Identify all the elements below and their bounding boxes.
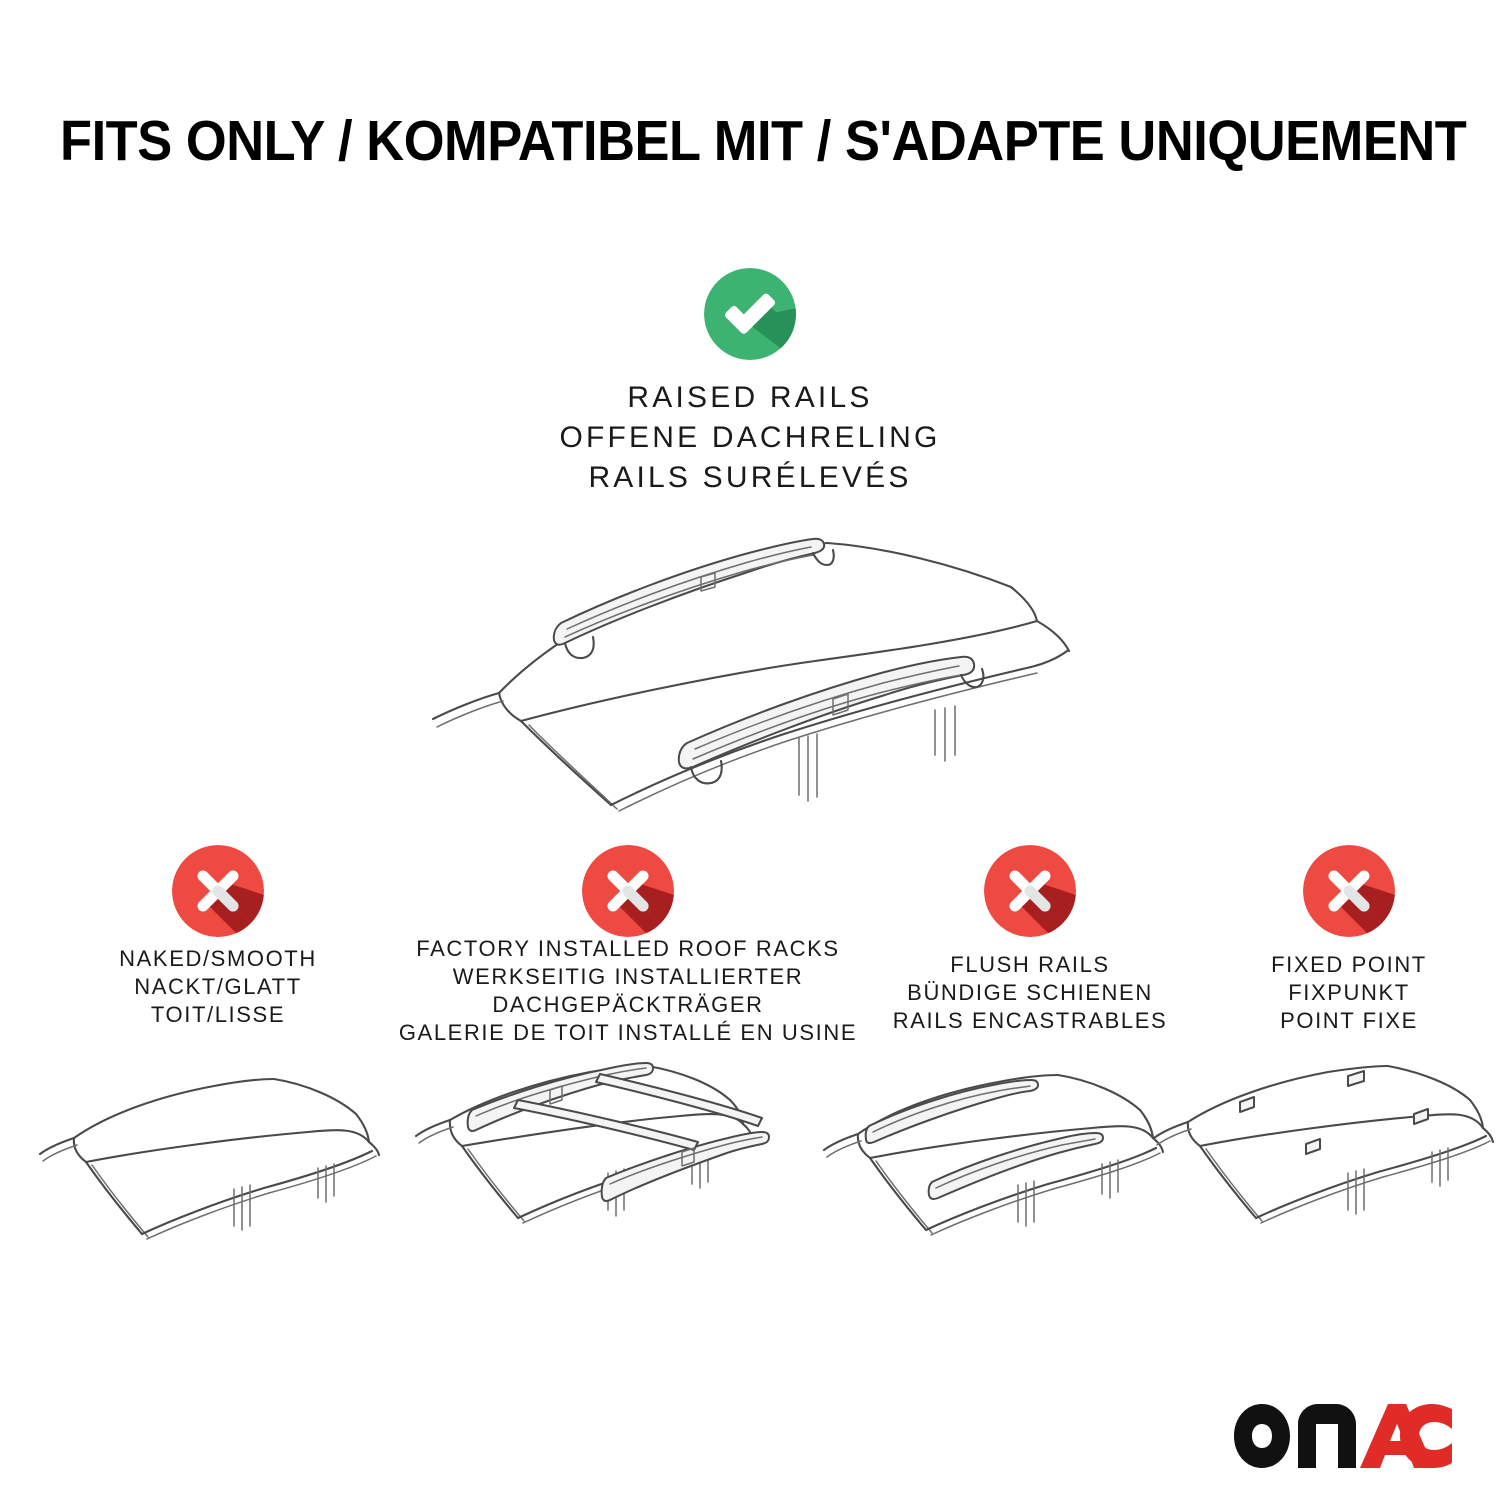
cross-circle-icon <box>1303 845 1395 937</box>
cross-circle-wrap <box>1204 845 1494 945</box>
label-de-2: DACHGEPÄCKTRÄGER <box>398 991 858 1019</box>
cross-circle-icon <box>172 845 264 937</box>
incompatible-labels-factory-racks: FACTORY INSTALLED ROOF RACKS WERKSEITIG … <box>398 935 858 1047</box>
label-fr: GALERIE DE TOIT INSTALLÉ EN USINE <box>398 1019 858 1047</box>
car-roof-naked-smooth-illustration <box>38 1058 418 1303</box>
incompatible-labels-naked-smooth: NAKED/SMOOTH NACKT/GLATT TOIT/LISSE <box>48 945 388 1029</box>
cross-circle-wrap <box>48 845 388 945</box>
label-en: NAKED/SMOOTH <box>48 945 388 973</box>
car-roof-factory-racks-illustration <box>410 1058 790 1303</box>
page-title: FITS ONLY / KOMPATIBEL MIT / S'ADAPTE UN… <box>60 108 1440 174</box>
compatible-label-fr: RAILS SURÉLEVÉS <box>0 458 1500 498</box>
cross-circle-wrap <box>398 845 858 945</box>
cross-circle-icon <box>582 845 674 937</box>
incompatible-column-naked-smooth: NAKED/SMOOTH NACKT/GLATT TOIT/LISSE <box>48 845 388 945</box>
label-en: FIXED POINT <box>1204 951 1494 979</box>
label-en: FLUSH RAILS <box>862 951 1198 979</box>
check-circle-icon <box>704 268 796 360</box>
label-fr: POINT FIXE <box>1204 1007 1494 1035</box>
car-roof-raised-rails-illustration <box>415 505 1095 815</box>
incompatible-column-fixed-point: FIXED POINT FIXPUNKT POINT FIXE <box>1204 845 1494 945</box>
incompatible-labels-flush-rails: FLUSH RAILS BÜNDIGE SCHIENEN RAILS ENCAS… <box>862 951 1198 1035</box>
car-roof-flush-rails-illustration <box>822 1058 1202 1303</box>
label-de: NACKT/GLATT <box>48 973 388 1001</box>
label-fr: RAILS ENCASTRABLES <box>862 1007 1198 1035</box>
label-de: FIXPUNKT <box>1204 979 1494 1007</box>
compatible-label-de: OFFENE DACHRELING <box>0 418 1500 458</box>
car-roof-fixed-point-illustration <box>1152 1058 1500 1303</box>
omac-logo <box>1228 1398 1458 1470</box>
logo-letter-m <box>1298 1404 1356 1468</box>
cross-circle-icon <box>984 845 1076 937</box>
label-de: BÜNDIGE SCHIENEN <box>862 979 1198 1007</box>
incompatible-column-factory-racks: FACTORY INSTALLED ROOF RACKS WERKSEITIG … <box>398 845 858 945</box>
incompatible-column-flush-rails: FLUSH RAILS BÜNDIGE SCHIENEN RAILS ENCAS… <box>862 845 1198 945</box>
label-de-1: WERKSEITIG INSTALLIERTER <box>398 963 858 991</box>
label-en: FACTORY INSTALLED ROOF RACKS <box>398 935 858 963</box>
compatible-labels: RAISED RAILS OFFENE DACHRELING RAILS SUR… <box>0 378 1500 498</box>
compatible-label-en: RAISED RAILS <box>0 378 1500 418</box>
incompatible-labels-fixed-point: FIXED POINT FIXPUNKT POINT FIXE <box>1204 951 1494 1035</box>
logo-letter-o <box>1234 1404 1290 1468</box>
label-fr: TOIT/LISSE <box>48 1001 388 1029</box>
cross-circle-wrap <box>862 845 1198 945</box>
